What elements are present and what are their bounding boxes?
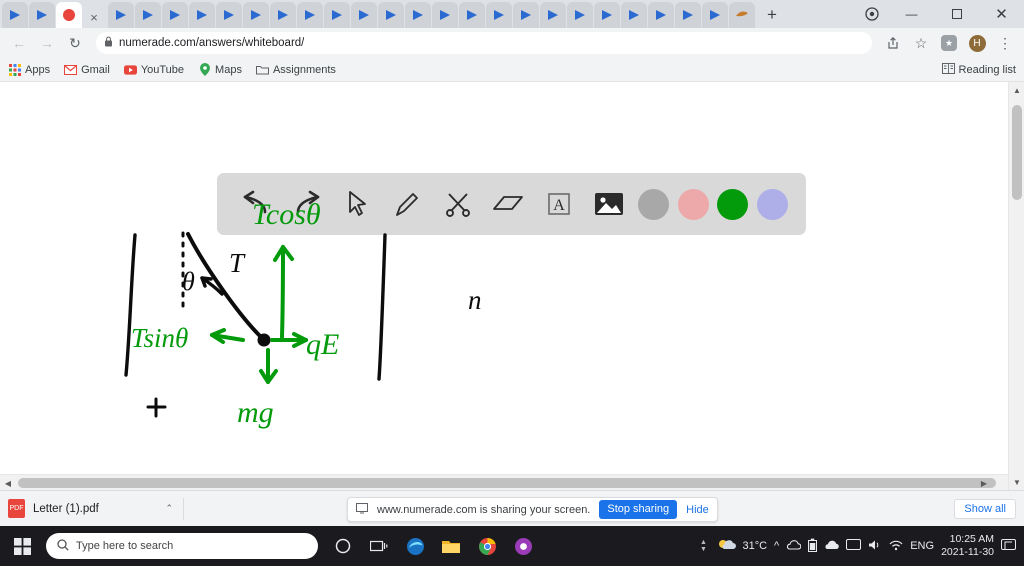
play-blue-icon — [303, 8, 317, 22]
browser-tab[interactable] — [648, 2, 674, 28]
cortana-icon[interactable] — [326, 526, 360, 566]
apps-grid-icon — [8, 63, 21, 76]
play-blue-icon — [573, 8, 587, 22]
cloud-icon[interactable] — [824, 539, 839, 553]
extensions-icon[interactable]: ★ — [936, 30, 962, 56]
reading-list-icon — [942, 63, 955, 77]
browser-tab[interactable] — [540, 2, 566, 28]
horizontal-scroll-thumb[interactable] — [18, 478, 996, 488]
stop-sharing-button[interactable]: Stop sharing — [599, 500, 677, 518]
play-blue-icon — [195, 8, 209, 22]
bookmark-label: Gmail — [81, 64, 110, 76]
browser-toolbar[interactable]: ← → ↻ numerade.com/answers/whiteboard/ ☆… — [0, 28, 1024, 58]
play-blue-icon — [546, 8, 560, 22]
play-blue-icon — [330, 8, 344, 22]
scroll-up-arrow[interactable]: ▲ — [1009, 82, 1024, 98]
play-blue-icon — [141, 8, 155, 22]
onedrive-icon[interactable] — [786, 539, 801, 553]
page-horizontal-scrollbar[interactable]: ◀ ▶ — [0, 474, 1008, 490]
browser-tab[interactable] — [378, 2, 404, 28]
bookmark-apps[interactable]: Apps — [8, 63, 50, 76]
close-window-button[interactable]: ✕ — [979, 0, 1024, 28]
windows-taskbar[interactable]: Type here to search ▲▼ 31°C ^ — [0, 526, 1024, 566]
browser-tab[interactable] — [189, 2, 215, 28]
edge-icon[interactable] — [398, 526, 432, 566]
bookmark-gmail[interactable]: Gmail — [64, 63, 110, 76]
annotation-mg: mg — [237, 396, 274, 429]
bookmarks-bar[interactable]: Apps Gmail YouTube Maps Assignments Read… — [0, 58, 1024, 82]
scroll-left-arrow[interactable]: ◀ — [0, 475, 16, 490]
whiteboard-drawing[interactable]: Tcosθ Tsinθ qE mg T θ n — [0, 82, 1006, 490]
play-blue-icon — [411, 8, 425, 22]
bookmark-star-icon[interactable]: ☆ — [908, 30, 934, 56]
browser-tab[interactable] — [594, 2, 620, 28]
address-bar-url: numerade.com/answers/whiteboard/ — [119, 37, 304, 49]
play-blue-icon — [438, 8, 452, 22]
play-blue-icon — [357, 8, 371, 22]
file-explorer-icon[interactable] — [434, 526, 468, 566]
browser-tab[interactable] — [108, 2, 134, 28]
browser-tab[interactable] — [486, 2, 512, 28]
browser-tab[interactable] — [675, 2, 701, 28]
folder-icon — [256, 63, 269, 76]
browser-tab[interactable] — [351, 2, 377, 28]
play-blue-icon — [8, 8, 22, 22]
reading-list-label: Reading list — [959, 64, 1016, 76]
browser-tab[interactable] — [2, 2, 28, 28]
browser-tab[interactable] — [405, 2, 431, 28]
bookmark-maps[interactable]: Maps — [198, 63, 242, 76]
download-file-name: Letter (1).pdf — [33, 503, 99, 515]
battery-icon[interactable] — [808, 538, 817, 555]
browser-tab[interactable] — [162, 2, 188, 28]
extension-puzzle-icon: ★ — [941, 35, 957, 51]
weather-temperature: 31°C — [742, 540, 767, 552]
screen-share-message: www.numerade.com is sharing your screen. — [377, 504, 590, 516]
show-all-downloads-button[interactable]: Show all — [954, 499, 1016, 519]
clock-date: 2021-11-30 — [941, 546, 994, 558]
gmail-icon — [64, 63, 77, 76]
address-bar[interactable]: numerade.com/answers/whiteboard/ — [96, 32, 872, 54]
play-blue-icon — [708, 8, 722, 22]
play-blue-icon — [168, 8, 182, 22]
window-controls[interactable]: — ✕ — [855, 0, 1024, 28]
play-blue-icon — [465, 8, 479, 22]
bookmark-label: YouTube — [141, 64, 184, 76]
hide-button[interactable]: Hide — [686, 504, 709, 516]
browser-tab[interactable] — [621, 2, 647, 28]
browser-tab[interactable] — [567, 2, 593, 28]
weather-cloud-icon — [717, 538, 736, 555]
taskbar-pinned-apps[interactable] — [326, 526, 540, 566]
share-icon[interactable] — [880, 30, 906, 56]
browser-tab[interactable] — [324, 2, 350, 28]
play-blue-icon — [600, 8, 614, 22]
browser-tab[interactable] — [216, 2, 242, 28]
play-blue-icon — [519, 8, 533, 22]
play-blue-icon — [654, 8, 668, 22]
forward-button[interactable]: → — [34, 30, 60, 56]
play-blue-icon — [627, 8, 641, 22]
annotation-theta: θ — [182, 267, 195, 296]
play-blue-icon — [114, 8, 128, 22]
browser-tab[interactable] — [459, 2, 485, 28]
reload-button[interactable]: ↻ — [62, 30, 88, 56]
task-view-icon[interactable] — [362, 526, 396, 566]
weather-widget[interactable]: 31°C — [717, 538, 767, 555]
annotation-tcos-theta: Tcosθ — [252, 198, 321, 231]
browser-tab-strip[interactable]: × + — ✕ — [0, 0, 1024, 28]
scroll-right-arrow[interactable]: ▶ — [976, 475, 992, 490]
tray-scroll-arrows[interactable]: ▲▼ — [696, 533, 710, 559]
annotation-tension: T — [229, 248, 246, 278]
play-blue-icon — [681, 8, 695, 22]
youtube-icon — [124, 63, 137, 76]
app-icon-purple[interactable] — [506, 526, 540, 566]
bookmark-assignments[interactable]: Assignments — [256, 63, 336, 76]
pdf-icon: PDF — [8, 499, 25, 518]
system-tray[interactable]: ▲▼ 31°C ^ ENG 10:25 AM 2021-11-30 — [696, 533, 1024, 559]
screen-share-icon — [356, 503, 368, 517]
bookmark-label: Maps — [215, 64, 242, 76]
browser-tab[interactable] — [29, 2, 55, 28]
minimize-window-button[interactable]: — — [889, 0, 934, 28]
vertical-scroll-thumb[interactable] — [1012, 105, 1022, 200]
download-menu-caret[interactable]: ⌃ — [165, 503, 173, 514]
chrome-icon[interactable] — [470, 526, 504, 566]
bird-icon — [735, 8, 749, 22]
browser-tab-active[interactable] — [56, 2, 82, 28]
taskbar-clock[interactable]: 10:25 AM 2021-11-30 — [941, 533, 994, 559]
lock-icon — [104, 36, 113, 50]
bookmark-youtube[interactable]: YouTube — [124, 63, 184, 76]
chrome-menu-button[interactable]: ⋮ — [992, 30, 1018, 56]
annotation-tsin-theta: Tsinθ — [131, 323, 188, 353]
avatar: H — [969, 35, 986, 52]
play-blue-icon — [222, 8, 236, 22]
tab-search-icon[interactable] — [855, 0, 889, 28]
play-blue-icon — [276, 8, 290, 22]
download-item[interactable]: PDF Letter (1).pdf ⌃ — [8, 499, 173, 518]
show-hidden-icons[interactable]: ^ — [774, 540, 779, 552]
back-button[interactable]: ← — [6, 30, 32, 56]
page-content[interactable]: A — [0, 82, 1024, 490]
annotation-qe: qE — [306, 328, 339, 361]
browser-tab[interactable] — [243, 2, 269, 28]
play-blue-icon — [35, 8, 49, 22]
notifications-icon[interactable] — [1001, 538, 1016, 554]
maximize-window-button[interactable] — [934, 0, 979, 28]
windows-start-icon[interactable] — [0, 526, 44, 566]
browser-tab[interactable] — [432, 2, 458, 28]
play-blue-icon — [384, 8, 398, 22]
taskbar-search-box[interactable]: Type here to search — [46, 533, 318, 559]
bookmark-label: Assignments — [273, 64, 336, 76]
browser-tab[interactable] — [729, 2, 755, 28]
screen-share-notification[interactable]: www.numerade.com is sharing your screen.… — [347, 497, 718, 522]
language-indicator[interactable]: ENG — [910, 540, 934, 552]
record-red-dot-icon — [63, 9, 75, 21]
profile-avatar[interactable]: H — [964, 30, 990, 56]
network-icon[interactable] — [889, 539, 903, 554]
close-tab-button[interactable]: × — [83, 6, 105, 28]
scroll-down-arrow[interactable]: ▼ — [1009, 474, 1024, 490]
taskbar-search-placeholder: Type here to search — [76, 540, 173, 552]
play-blue-icon — [492, 8, 506, 22]
toolbar-right-actions[interactable]: ☆ ★ H ⋮ — [880, 30, 1018, 56]
bookmark-label: Apps — [25, 64, 50, 76]
page-vertical-scrollbar[interactable]: ▲ ▼ — [1008, 82, 1024, 490]
play-blue-icon — [249, 8, 263, 22]
browser-tab[interactable] — [702, 2, 728, 28]
display-icon[interactable] — [846, 539, 861, 553]
browser-tab[interactable] — [270, 2, 296, 28]
maps-pin-icon — [198, 63, 211, 76]
browser-tab[interactable] — [513, 2, 539, 28]
browser-tab[interactable] — [297, 2, 323, 28]
annotation-n: n — [468, 285, 482, 315]
clock-time: 10:25 AM — [950, 533, 994, 545]
browser-tab[interactable] — [135, 2, 161, 28]
new-tab-button[interactable]: + — [759, 2, 785, 28]
search-icon — [57, 539, 69, 554]
volume-icon[interactable] — [868, 539, 882, 554]
divider — [183, 498, 184, 520]
reading-list-button[interactable]: Reading list — [942, 63, 1016, 77]
downloads-shelf[interactable]: PDF Letter (1).pdf ⌃ www.numerade.com is… — [0, 490, 1024, 526]
